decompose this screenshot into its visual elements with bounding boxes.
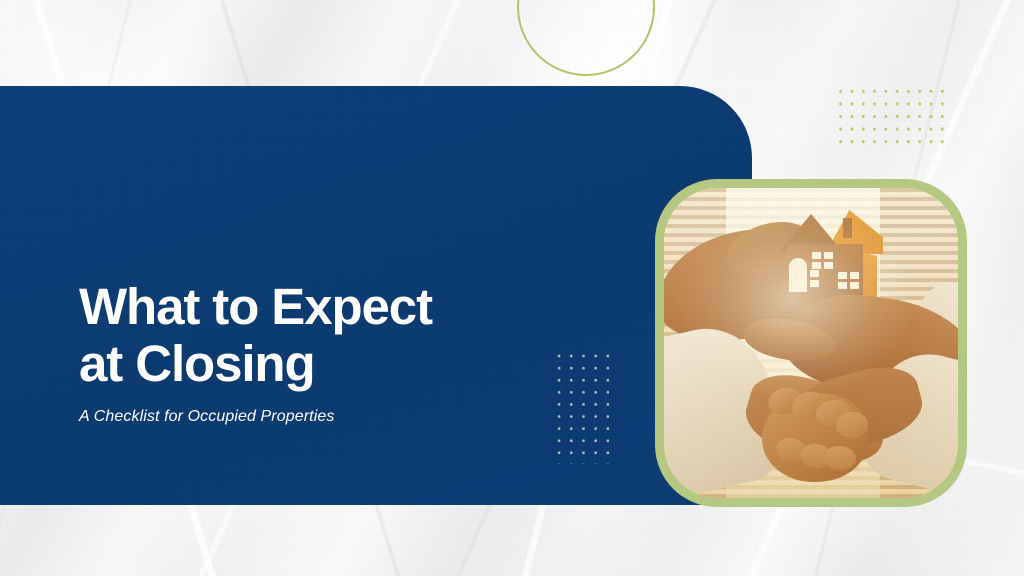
house-window [850, 282, 859, 289]
house-chimney [843, 218, 852, 238]
house-window [824, 262, 833, 269]
house-window [810, 280, 819, 287]
house-window [824, 252, 833, 259]
house-window [798, 280, 807, 287]
house-window [812, 262, 821, 269]
photo-card [655, 179, 967, 507]
olive-dot-grid-decoration [834, 84, 947, 147]
house-model-icon [781, 210, 877, 304]
house-window [838, 272, 847, 279]
page-title: What to Expect at Closing [79, 278, 549, 392]
page-subtitle: A Checklist for Occupied Properties [79, 408, 549, 426]
house-window [850, 272, 859, 279]
slide-canvas: What to Expect at Closing A Checklist fo… [0, 0, 1024, 576]
light-dot-grid-decoration [552, 349, 616, 464]
house-window [812, 252, 821, 259]
house-window [838, 282, 847, 289]
photo-image [664, 188, 958, 498]
house-window [810, 270, 819, 277]
title-block: What to Expect at Closing A Checklist fo… [79, 278, 549, 426]
house-window [798, 270, 807, 277]
